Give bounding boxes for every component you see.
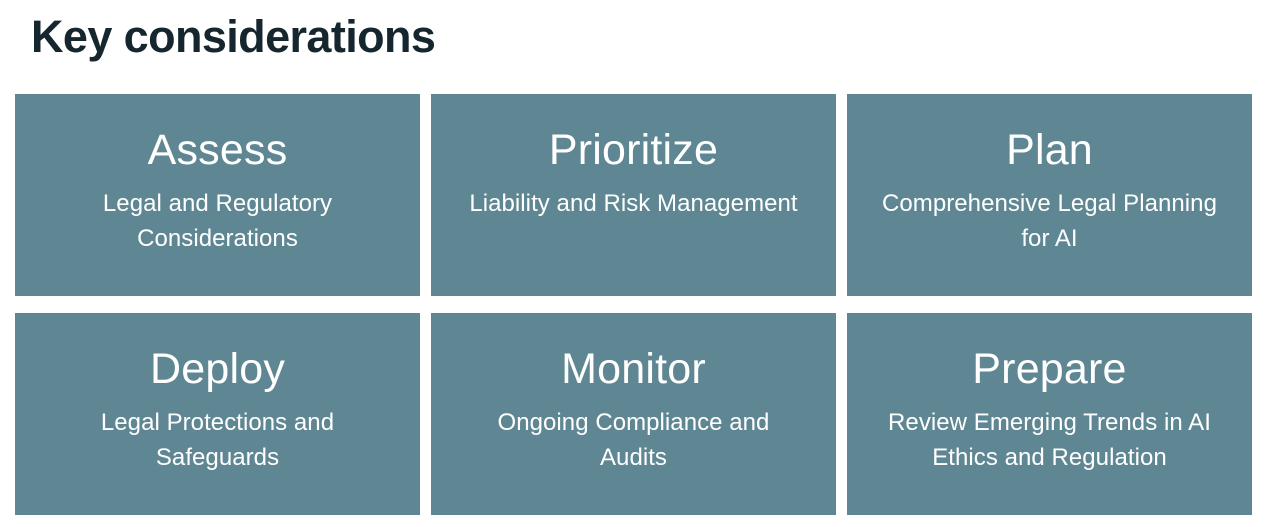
card-subtitle: Comprehensive Legal Planning for AI bbox=[880, 173, 1220, 256]
card-subtitle: Liability and Risk Management bbox=[469, 173, 797, 222]
consideration-card-prioritize[interactable]: Prioritize Liability and Risk Management bbox=[431, 94, 836, 296]
card-subtitle: Review Emerging Trends in AI Ethics and … bbox=[880, 392, 1220, 475]
card-heading: Prioritize bbox=[549, 94, 718, 173]
card-heading: Deploy bbox=[150, 313, 285, 392]
page-title: Key considerations bbox=[31, 12, 435, 62]
card-subtitle: Legal and Regulatory Considerations bbox=[48, 173, 388, 256]
card-heading: Plan bbox=[1006, 94, 1093, 173]
consideration-card-deploy[interactable]: Deploy Legal Protections and Safeguards bbox=[15, 313, 420, 515]
considerations-grid: Assess Legal and Regulatory Consideratio… bbox=[15, 94, 1251, 515]
slide-canvas: Key considerations Assess Legal and Regu… bbox=[0, 0, 1266, 527]
consideration-card-assess[interactable]: Assess Legal and Regulatory Consideratio… bbox=[15, 94, 420, 296]
card-heading: Monitor bbox=[561, 313, 706, 392]
card-subtitle: Ongoing Compliance and Audits bbox=[464, 392, 804, 475]
card-heading: Prepare bbox=[972, 313, 1126, 392]
consideration-card-plan[interactable]: Plan Comprehensive Legal Planning for AI bbox=[847, 94, 1252, 296]
card-heading: Assess bbox=[148, 94, 288, 173]
consideration-card-monitor[interactable]: Monitor Ongoing Compliance and Audits bbox=[431, 313, 836, 515]
consideration-card-prepare[interactable]: Prepare Review Emerging Trends in AI Eth… bbox=[847, 313, 1252, 515]
card-subtitle: Legal Protections and Safeguards bbox=[48, 392, 388, 475]
